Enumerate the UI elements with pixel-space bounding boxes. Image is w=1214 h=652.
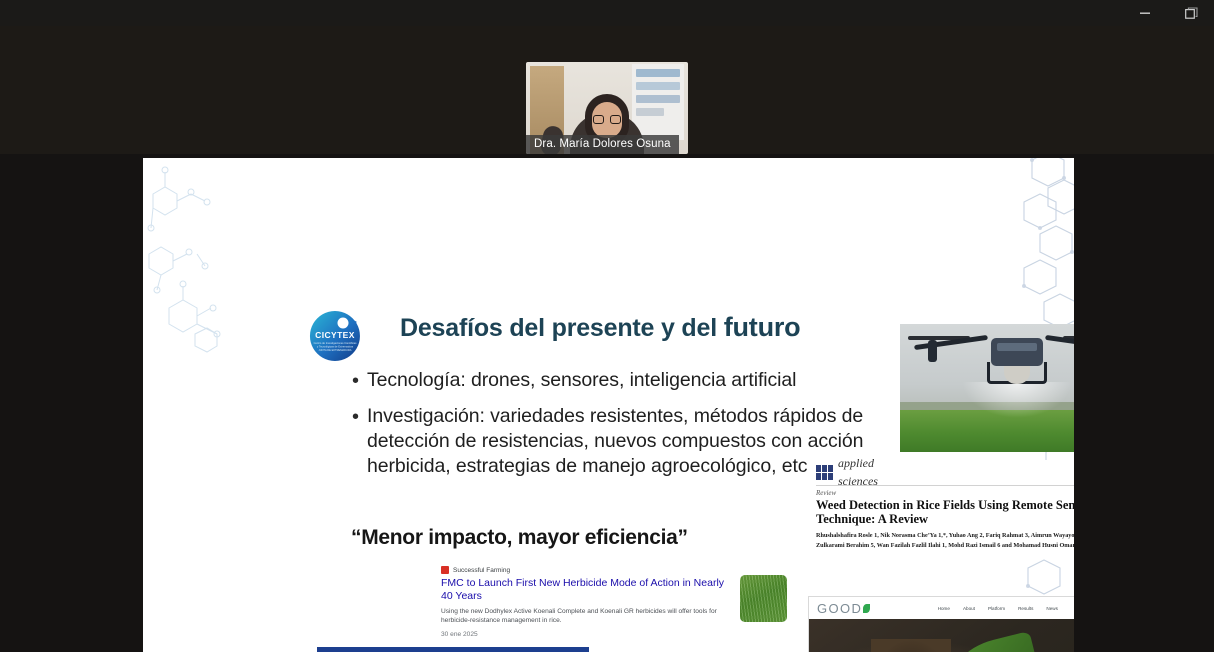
glasses-icon bbox=[593, 115, 621, 124]
bullet-marker-icon: • bbox=[349, 404, 367, 430]
article-title: Weed Detection in Rice Fields Using Remo… bbox=[816, 498, 1074, 526]
successful-farming-favicon-icon bbox=[441, 566, 449, 574]
drone-icon bbox=[991, 338, 1043, 366]
nav-item-home[interactable]: Home bbox=[938, 606, 950, 611]
news-source: Successful Farming bbox=[441, 566, 733, 574]
slide-quote: “Menor impacto, mayor eficiencia” bbox=[351, 526, 688, 550]
slide-title: Desafíos del presente y del futuro bbox=[400, 312, 920, 343]
meeting-stage: Dra. María Dolores Osuna bbox=[0, 26, 1214, 652]
leaf-icon bbox=[863, 604, 870, 613]
bullet-list: • Tecnología: drones, sensores, intelige… bbox=[349, 368, 869, 489]
provisia-logo-bar: Provisia BASF BASF Provisi bbox=[317, 647, 589, 652]
news-source-name: Successful Farming bbox=[453, 567, 510, 574]
minimize-icon[interactable] bbox=[1122, 0, 1168, 26]
goodhorizon-website-screenshot[interactable]: GOOD Home About Platform Results News Co… bbox=[808, 596, 1074, 652]
slide-title-part1: Desafíos del presente y del bbox=[400, 314, 724, 342]
good-logo[interactable]: GOOD bbox=[817, 601, 870, 616]
journal-article-card: applied sciences MDPI Review Weed Detect… bbox=[816, 460, 1074, 558]
nav-item-platform[interactable]: Platform bbox=[988, 606, 1005, 611]
journal-name-line1: applied bbox=[838, 456, 874, 470]
bullet-text: Investigación: variedades resistentes, m… bbox=[367, 404, 869, 479]
slide-title-part2: futuro bbox=[724, 312, 801, 342]
nav-links: Home About Platform Results News bbox=[938, 606, 1058, 611]
svg-text:y Tecnológicas de Extremadura: y Tecnológicas de Extremadura bbox=[317, 345, 354, 349]
article-type: Review bbox=[816, 489, 1074, 497]
list-item: • Tecnología: drones, sensores, intelige… bbox=[349, 368, 869, 394]
spray-mist bbox=[962, 382, 1072, 418]
journal-name-line2: sciences bbox=[838, 474, 878, 488]
hands-with-seedling-photo bbox=[871, 639, 951, 652]
video-bookshelf bbox=[632, 64, 684, 140]
svg-text:CICYTEX: CICYTEX bbox=[315, 330, 355, 340]
bullet-text: Tecnología: drones, sensores, inteligenc… bbox=[367, 368, 796, 393]
nav-item-news[interactable]: News bbox=[1046, 606, 1058, 611]
news-thumbnail bbox=[740, 575, 787, 622]
bullet-marker-icon: • bbox=[349, 368, 367, 394]
hero-section: Project GOOD AGROECOLOGY FOR WEEDS An Ag… bbox=[809, 619, 1074, 652]
news-date: 30 ene 2025 bbox=[441, 631, 733, 638]
news-result[interactable]: Successful Farming FMC to Launch First N… bbox=[441, 566, 733, 638]
news-snippet: Using the new Dodhylex Active Koenali Co… bbox=[441, 607, 733, 625]
svg-text:JUNTA DE EXTREMADURA: JUNTA DE EXTREMADURA bbox=[319, 348, 352, 352]
applied-sciences-logo: applied sciences bbox=[816, 454, 878, 490]
journal-grid-icon bbox=[816, 465, 833, 480]
news-headline[interactable]: FMC to Launch First New Herbicide Mode o… bbox=[441, 577, 733, 602]
svg-text:Centro de Investigaciones Cien: Centro de Investigaciones Científicas bbox=[314, 341, 358, 345]
nav-item-about[interactable]: About bbox=[963, 606, 975, 611]
maximize-icon[interactable] bbox=[1168, 0, 1214, 26]
shared-slide[interactable]: CICYTEX Centro de Investigaciones Cientí… bbox=[143, 158, 1074, 652]
article-authors-line2: Zulkarami Berahim 5, Wan Fazilah Fazlil … bbox=[816, 542, 1074, 551]
cicytex-logo: CICYTEX Centro de Investigaciones Cientí… bbox=[309, 310, 361, 362]
site-navigation-bar: GOOD Home About Platform Results News Co… bbox=[809, 597, 1074, 619]
provisia-banner: Provisia BASF BASF Provisi bbox=[317, 647, 589, 652]
window-title-bar bbox=[0, 0, 1214, 26]
article-authors-line1: Rhushalshafira Rosle 1, Nik Norasma Che’… bbox=[816, 532, 1074, 541]
good-logo-text: GOOD bbox=[817, 601, 862, 616]
application-window: Dra. María Dolores Osuna bbox=[0, 0, 1214, 652]
list-item: • Investigación: variedades resistentes,… bbox=[349, 404, 869, 479]
participant-name-label: Dra. María Dolores Osuna bbox=[526, 135, 679, 154]
nav-item-results[interactable]: Results bbox=[1018, 606, 1033, 611]
participant-video-tile[interactable]: Dra. María Dolores Osuna bbox=[526, 62, 688, 154]
molecule-decoration-left bbox=[143, 158, 231, 388]
drone-spraying-photo bbox=[900, 324, 1074, 452]
